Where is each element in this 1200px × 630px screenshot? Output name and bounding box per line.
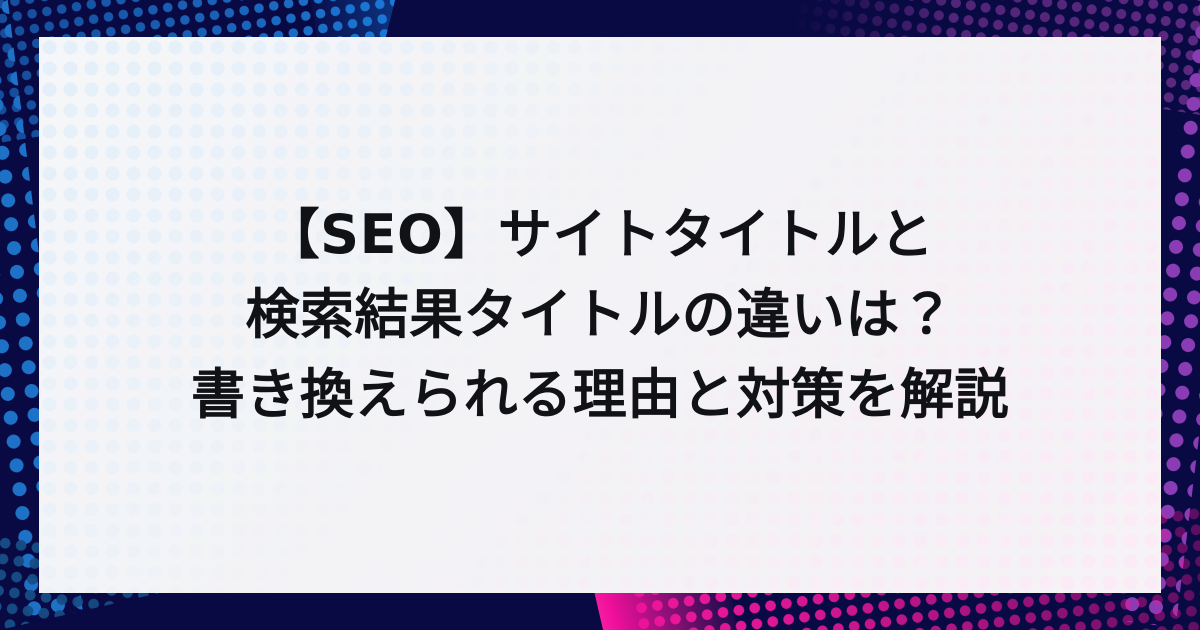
title-line-3: 書き換えられる理由と対策を解説 xyxy=(73,355,1127,435)
title-line-1: 【SEO】サイトタイトルと xyxy=(73,195,1127,275)
og-image-canvas: 【SEO】サイトタイトルと 検索結果タイトルの違いは？ 書き換えられる理由と対策… xyxy=(0,0,1200,630)
page-title: 【SEO】サイトタイトルと 検索結果タイトルの違いは？ 書き換えられる理由と対策… xyxy=(39,195,1161,435)
title-line-2: 検索結果タイトルの違いは？ xyxy=(73,275,1127,355)
content-card: 【SEO】サイトタイトルと 検索結果タイトルの違いは？ 書き換えられる理由と対策… xyxy=(39,37,1161,593)
